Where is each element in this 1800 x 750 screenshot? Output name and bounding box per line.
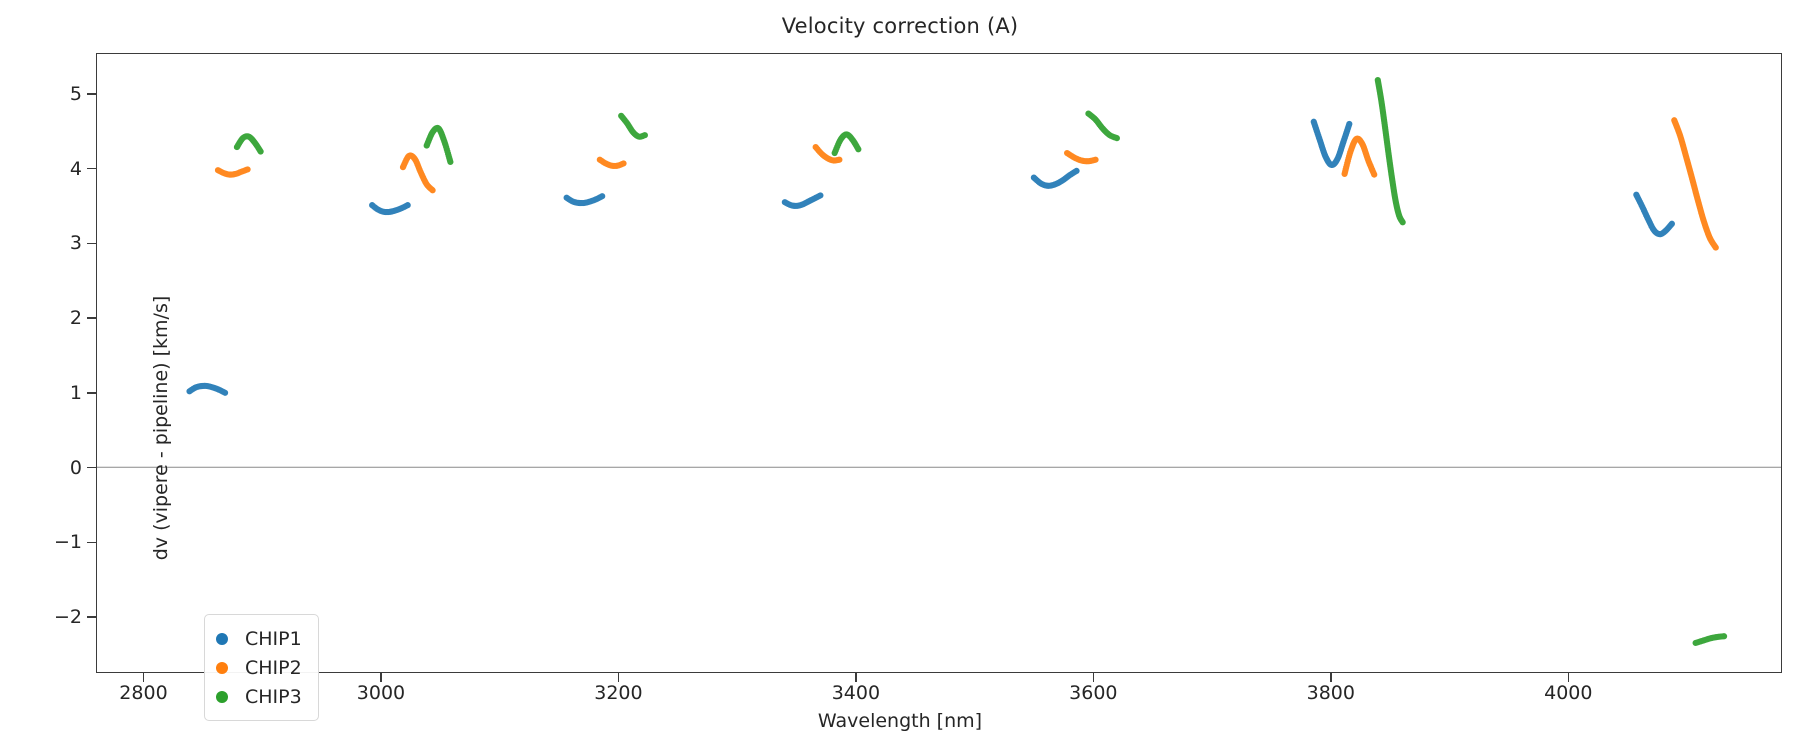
x-axis-tick-label: 2800: [119, 682, 167, 704]
y-axis-tick-mark: [87, 392, 96, 393]
y-axis-tick-mark: [87, 467, 96, 468]
x-axis-tick-label: 3600: [1069, 682, 1117, 704]
x-axis-tick-mark: [855, 673, 856, 682]
y-axis-tick-label: 3: [70, 232, 82, 254]
legend-label-chip2: CHIP2: [245, 657, 302, 679]
x-axis-tick-label: 3200: [594, 682, 642, 704]
data-series-layer: [97, 54, 1781, 672]
x-axis-tick-label: 3800: [1307, 682, 1355, 704]
x-axis-tick-mark: [1330, 673, 1331, 682]
y-axis-tick-mark: [87, 243, 96, 244]
y-axis-tick-mark: [87, 317, 96, 318]
chart-title: Velocity correction (A): [0, 14, 1800, 38]
legend-item[interactable]: CHIP2: [216, 653, 302, 682]
y-axis-tick-mark: [87, 542, 96, 543]
legend-marker-chip3: [216, 691, 228, 703]
y-axis-tick-label: 1: [70, 382, 82, 404]
y-axis-tick-label: 2: [70, 307, 82, 329]
x-axis-tick-mark: [1568, 673, 1569, 682]
y-axis-label: dv (vipere - pipeline) [km/s]: [150, 108, 172, 748]
y-axis-tick-mark: [87, 93, 96, 94]
y-axis-tick-label: 4: [70, 158, 82, 180]
legend-label-chip3: CHIP3: [245, 686, 302, 708]
plot-canvas: [97, 54, 1781, 672]
x-axis-tick-label: 3400: [832, 682, 880, 704]
x-axis-tick-label: 4000: [1544, 682, 1592, 704]
legend-item[interactable]: CHIP3: [216, 682, 302, 711]
plot-area: CHIP1 CHIP2 CHIP3 dv (vipere - pipeline)…: [96, 53, 1782, 673]
figure: Velocity correction (A) CHIP1 CHIP2 CHIP…: [0, 0, 1800, 750]
x-axis-tick-mark: [143, 673, 144, 682]
legend[interactable]: CHIP1 CHIP2 CHIP3: [204, 614, 319, 721]
x-axis-label: Wavelength [nm]: [0, 710, 1800, 732]
x-axis-tick-mark: [618, 673, 619, 682]
legend-marker-chip2: [216, 662, 228, 674]
legend-item[interactable]: CHIP1: [216, 624, 302, 653]
y-axis-tick-label: 0: [70, 457, 82, 479]
y-axis-tick-label: −2: [54, 606, 82, 628]
y-axis-tick-mark: [87, 616, 96, 617]
x-axis-tick-label: 3000: [357, 682, 405, 704]
y-axis-tick-mark: [87, 168, 96, 169]
y-axis-tick-label: 5: [70, 83, 82, 105]
legend-label-chip1: CHIP1: [245, 628, 302, 650]
legend-marker-chip1: [216, 633, 228, 645]
x-axis-tick-mark: [380, 673, 381, 682]
x-axis-tick-mark: [1093, 673, 1094, 682]
y-axis-tick-label: −1: [54, 531, 82, 553]
